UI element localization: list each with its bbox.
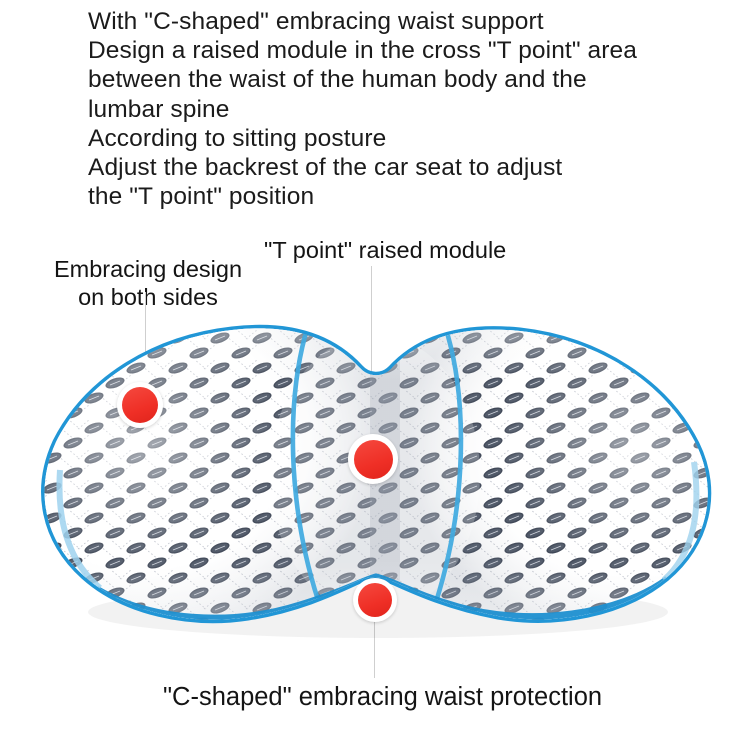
infographic-canvas: With "C-shaped" embracing waist support … — [0, 0, 750, 750]
marker-embracing-design[interactable] — [117, 382, 163, 428]
marker-c-shaped-protection[interactable] — [353, 578, 397, 622]
marker-dot — [354, 440, 393, 479]
marker-dot — [358, 583, 392, 617]
product-image-cushion — [0, 0, 750, 750]
marker-dot — [122, 387, 158, 423]
marker-t-point-module[interactable] — [348, 434, 398, 484]
